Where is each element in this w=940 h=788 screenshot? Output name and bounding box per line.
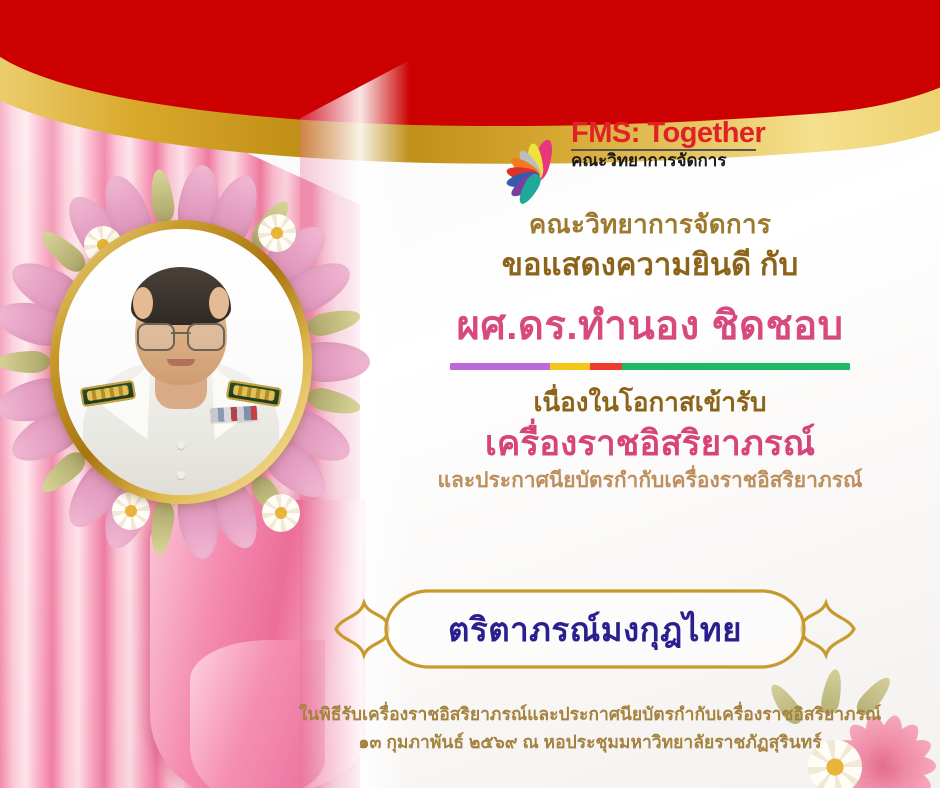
divider-segment — [590, 363, 622, 370]
logo-brand-text: FMS: Together — [571, 118, 765, 148]
divider-segment — [450, 363, 550, 370]
fms-logo: FMS: Together คณะวิทยาการจัดการ — [505, 116, 765, 190]
ceremony-details: ในพิธีรับเครื่องราชอิสริยาภรณ์และประกาศน… — [240, 700, 940, 756]
portrait-medallion — [26, 192, 336, 532]
uniform-button — [177, 471, 185, 479]
medal-ribbon-bar — [211, 406, 258, 422]
congratulation-poster: FMS: Together คณะวิทยาการจัดการ คณะวิทยา… — [0, 0, 940, 788]
divider-segment — [550, 363, 590, 370]
glasses-icon — [137, 323, 225, 347]
faculty-name: คณะวิทยาการจัดการ — [360, 208, 940, 241]
wreath-daisy — [262, 494, 300, 532]
occasion-text: เนื่องในโอกาสเข้ารับ — [360, 386, 940, 420]
divider-segment — [622, 363, 850, 370]
logo-text-block: FMS: Together คณะวิทยาการจัดการ — [571, 118, 765, 171]
logo-thai-subtitle: คณะวิทยาการจัดการ — [571, 152, 765, 171]
award-name-text: ตริตาภรณ์มงกุฎไทย — [330, 583, 860, 675]
wreath-leaf — [0, 351, 50, 373]
honoree-name: ผศ.ดร.ทำนอง ชิดชอบ — [360, 301, 940, 351]
certificate-text: และประกาศนียบัตรกำกับเครื่องราชอิสริยาภร… — [360, 467, 940, 494]
fms-flower-logo-icon — [505, 118, 567, 184]
mouth — [167, 359, 195, 366]
message-block: คณะวิทยาการจัดการ ขอแสดงความยินดี กับ ผศ… — [360, 208, 940, 495]
award-name-plaque: ตริตาภรณ์มงกุฎไทย — [330, 583, 860, 675]
color-divider-bar — [450, 363, 850, 370]
portrait-photo — [59, 229, 303, 495]
ceremony-line-2: ๑๓ กุมภาพันธ์ ๒๕๖๙ ณ หอประชุมมหาวิทยาลัย… — [240, 728, 940, 756]
uniform-button — [177, 441, 185, 449]
ceremony-line-1: ในพิธีรับเครื่องราชอิสริยาภรณ์และประกาศน… — [240, 700, 940, 728]
portrait-gold-frame — [50, 220, 312, 504]
award-kind-text: เครื่องราชอิสริยาภรณ์ — [360, 422, 940, 466]
congratulations-heading: ขอแสดงความยินดี กับ — [360, 245, 940, 285]
